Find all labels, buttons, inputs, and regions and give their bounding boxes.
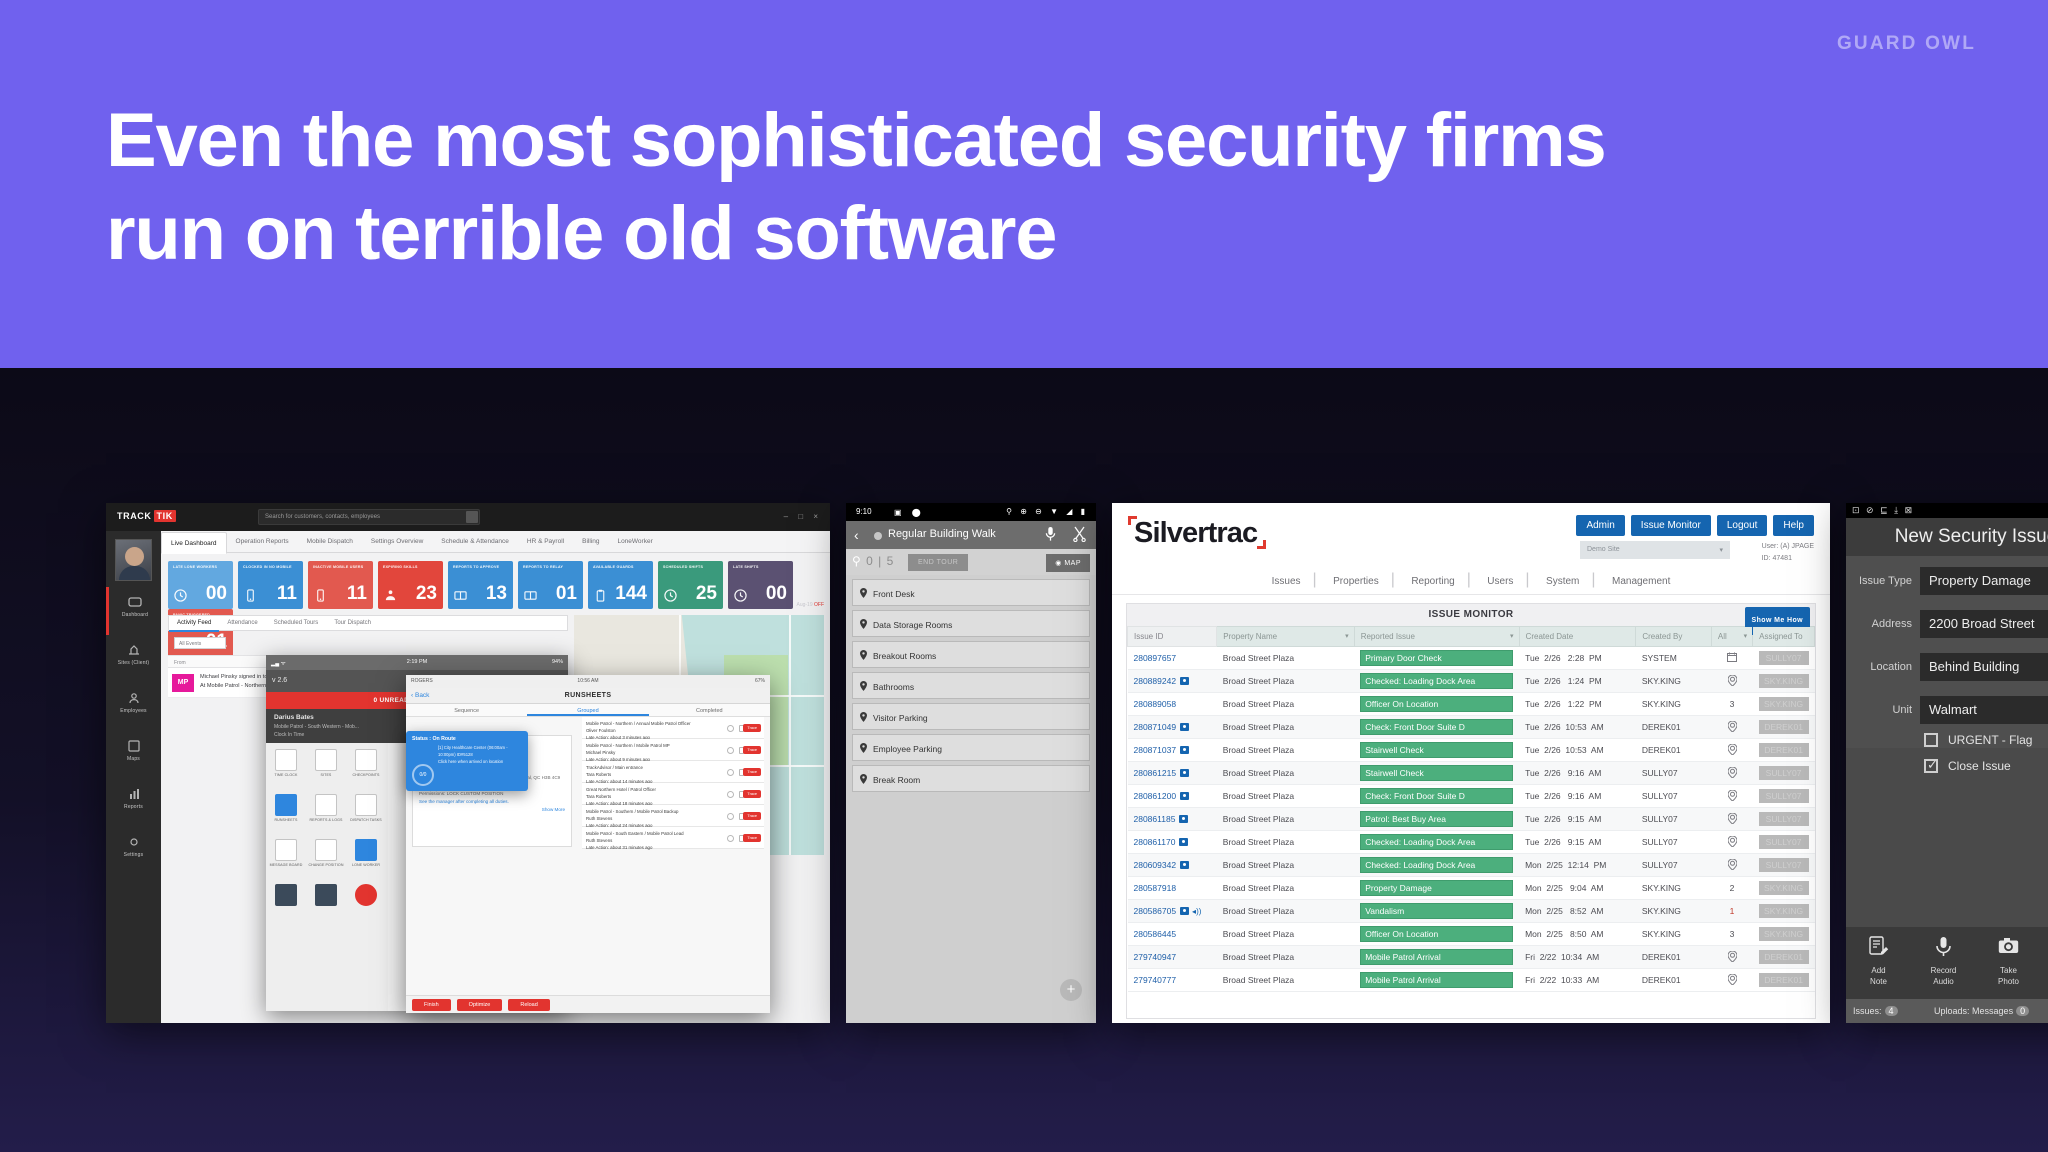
- checkpoint-label: Visitor Parking: [873, 713, 928, 723]
- mobile-tile[interactable]: [266, 878, 306, 923]
- tab-loneworker[interactable]: LoneWorker: [608, 531, 661, 551]
- runsheet-row[interactable]: TrackAdvisor / Main entranceTara Roberts…: [582, 761, 764, 783]
- cell-assigned-to: SKY.KING: [1753, 693, 1815, 716]
- camera-icon: [1179, 838, 1188, 846]
- issue-id-link[interactable]: 280609342: [1134, 860, 1177, 870]
- table-row[interactable]: 280609342 Broad Street Plaza Checked: Lo…: [1128, 854, 1815, 877]
- camera-icon: [1180, 861, 1189, 869]
- tab-settings-overview[interactable]: Settings Overview: [362, 531, 432, 551]
- issue-badge: Property Damage: [1360, 880, 1513, 896]
- runsheet-row[interactable]: Mobile Patrol - Southern / Mobile Patrol…: [582, 805, 764, 827]
- tab-live-dashboard[interactable]: Live Dashboard: [161, 532, 227, 554]
- table-row[interactable]: 280861200 Broad Street Plaza Check: Fron…: [1128, 785, 1815, 808]
- cell-alert: 1: [1711, 900, 1752, 923]
- table-row[interactable]: 280871037 Broad Street Plaza Stairwell C…: [1128, 739, 1815, 762]
- tab-hr-payroll[interactable]: HR & Payroll: [518, 531, 573, 551]
- nav-item-issues[interactable]: Issues: [1260, 576, 1313, 587]
- tab-sequence[interactable]: Sequence: [406, 704, 527, 714]
- issue-badge: Stairwell Check: [1360, 742, 1513, 758]
- cell-issue-id[interactable]: 280586705◂)): [1128, 900, 1217, 923]
- user-subtitle: Mobile Patrol - South Western - Mob... C…: [274, 724, 359, 739]
- field-label: Issue Type: [1854, 575, 1912, 587]
- table-row[interactable]: 280587918 Broad Street Plaza Property Da…: [1128, 877, 1815, 900]
- headline-line-2: run on terrible old software: [106, 188, 1606, 281]
- nav-divider: |: [1591, 571, 1595, 588]
- runsheet-tabs: Sequence Grouped Completed: [406, 704, 770, 717]
- issue-id-link[interactable]: 280586705: [1134, 906, 1177, 916]
- cell-created-by: SULLY07: [1636, 808, 1712, 831]
- dashboard-icon: [128, 595, 142, 609]
- cell-issue-id[interactable]: 280861200: [1128, 785, 1217, 808]
- site-line: Permissions: LOCK CUSTOM POSITION: [419, 790, 565, 798]
- table-row[interactable]: 280586445 Broad Street Plaza Officer On …: [1128, 923, 1815, 946]
- cell-reported-issue: Primary Door Check: [1354, 647, 1519, 670]
- cell-created-date: Tue 2/26 1:24 PM: [1519, 670, 1636, 693]
- tab-billing[interactable]: Billing: [573, 531, 608, 551]
- cell-issue-id[interactable]: 280871037: [1128, 739, 1217, 762]
- mobile-tile[interactable]: RUNSHEETS: [266, 788, 306, 833]
- book-icon: [454, 589, 467, 604]
- trace-button[interactable]: Trace: [743, 812, 761, 820]
- cell-alert: [1711, 647, 1752, 670]
- trace-button[interactable]: Trace: [743, 790, 761, 798]
- cell-created-date: Mon 2/25 8:52 AM: [1519, 900, 1636, 923]
- issue-id-link[interactable]: 280889058: [1134, 699, 1177, 709]
- mobile-tile[interactable]: MESSAGE BOARD: [266, 833, 306, 878]
- cell-issue-id[interactable]: 280861185: [1128, 808, 1217, 831]
- kpi-tile[interactable]: Available Guards 144: [588, 561, 653, 609]
- cell-created-by: SKY.KING: [1636, 877, 1712, 900]
- mobile-tile[interactable]: TIME CLOCK: [266, 743, 306, 788]
- checkbox-row[interactable]: Close Issue: [1846, 754, 2048, 780]
- tracktik-logo-accent: TIK: [154, 510, 176, 522]
- nav-divider: |: [1313, 571, 1317, 588]
- back-label: Back: [415, 692, 429, 699]
- cell-alert: [1711, 739, 1752, 762]
- subtab-tour-dispatch[interactable]: Tour Dispatch: [326, 616, 379, 630]
- issue-id-link[interactable]: 280587918: [1134, 883, 1177, 893]
- checkpoint-label: Breakout Rooms: [873, 651, 936, 661]
- search-icon[interactable]: [466, 511, 478, 523]
- add-checkpoint-button[interactable]: +: [1060, 979, 1082, 1001]
- mobile-tile[interactable]: CHANGE POSITION: [306, 833, 346, 878]
- scissors-icon[interactable]: [1073, 526, 1086, 547]
- runsheet-row[interactable]: Mobile Patrol - South Eastern / Mobile P…: [582, 827, 764, 849]
- nav-item-reporting[interactable]: Reporting: [1399, 576, 1466, 587]
- checkpoint-item[interactable]: Bathrooms: [852, 672, 1090, 699]
- column-header-property-name[interactable]: Property Name▾: [1217, 627, 1354, 647]
- cell-alert: [1711, 808, 1752, 831]
- status-bubble-line: Click here when arrived on location: [438, 758, 522, 765]
- map-button[interactable]: ◉ MAP: [1046, 554, 1090, 572]
- issue-badge: Checked: Loading Dock Area: [1360, 673, 1513, 689]
- cell-property-name: Broad Street Plaza: [1217, 923, 1354, 946]
- nav-divider: |: [1525, 571, 1529, 588]
- sidebar-item-reports[interactable]: Reports: [106, 779, 161, 827]
- tour-title: Regular Building Walk: [888, 528, 996, 540]
- chevron-left-icon[interactable]: ‹: [854, 527, 859, 543]
- issue-id-link[interactable]: 280889242: [1134, 676, 1177, 686]
- issue-id-link[interactable]: 280897657: [1134, 653, 1177, 663]
- microphone-icon: [1911, 936, 1976, 961]
- checkbox[interactable]: [1924, 733, 1938, 747]
- nav-item-management[interactable]: Management: [1600, 576, 1682, 587]
- cell-alert: [1711, 762, 1752, 785]
- nav-item-properties[interactable]: Properties: [1321, 576, 1391, 587]
- sidebar-item-dashboard[interactable]: Dashboard: [106, 587, 161, 635]
- cell-assigned-to: SKY.KING: [1753, 877, 1815, 900]
- logo-corner-icon: [1257, 540, 1266, 549]
- runsheet-row[interactable]: Great Northern Hotel / Patrol OfficerTar…: [582, 783, 764, 805]
- battery-status: 67%: [755, 678, 765, 684]
- cell-property-name: Broad Street Plaza: [1217, 854, 1354, 877]
- kpi-value: 144: [615, 583, 647, 605]
- cell-issue-id[interactable]: 280861170: [1128, 831, 1217, 854]
- trace-button[interactable]: Trace: [743, 834, 761, 842]
- column-header-all[interactable]: All▾: [1711, 627, 1752, 647]
- cell-reported-issue: Stairwell Check: [1354, 739, 1519, 762]
- mobile-tile[interactable]: CHECKPOINTS: [346, 743, 386, 788]
- events-filter-select[interactable]: All Events: [174, 637, 226, 649]
- reports-icon: [315, 794, 337, 816]
- assigned-badge: SKY.KING: [1759, 697, 1809, 711]
- mobile-tile[interactable]: SITES: [306, 743, 346, 788]
- cell-issue-id[interactable]: 280609342: [1128, 854, 1217, 877]
- issue-id-link[interactable]: 280861215: [1134, 768, 1177, 778]
- issue-monitor-button[interactable]: Issue Monitor: [1631, 515, 1711, 536]
- optimize-button[interactable]: Optimize: [457, 999, 503, 1011]
- cell-issue-id[interactable]: 279740777: [1128, 969, 1217, 992]
- clock-icon: [734, 589, 747, 604]
- mobile-tile[interactable]: LONE WORKER: [346, 833, 386, 878]
- sidebar-label: Reports: [106, 804, 161, 810]
- checkbox[interactable]: [1924, 759, 1938, 773]
- checkpoint-item[interactable]: Front Desk: [852, 579, 1090, 606]
- mobile-tile-label: MESSAGE BOARD: [266, 863, 306, 867]
- checkpoint-item[interactable]: Break Room: [852, 765, 1090, 792]
- kpi-tile[interactable]: Clocked In No Mobile 11: [238, 561, 303, 609]
- show-more-link[interactable]: Show More: [419, 806, 565, 814]
- cell-alert: 3: [1711, 923, 1752, 946]
- clock-icon: [664, 589, 677, 604]
- silvertrac-logo-text: Silvertrac: [1134, 517, 1257, 549]
- cell-created-by: SKY.KING: [1636, 900, 1712, 923]
- tool-button[interactable]: TakePhoto: [1976, 927, 2041, 988]
- column-header-created-by[interactable]: Created By: [1636, 627, 1712, 647]
- tab-operation-reports[interactable]: Operation Reports: [227, 531, 298, 551]
- runsheet-list: Mobile Patrol - Northern / Annual Mobile…: [582, 717, 764, 989]
- mobile-tile[interactable]: [306, 878, 346, 923]
- issue-badge: Mobile Patrol Arrival: [1360, 972, 1513, 988]
- back-button[interactable]: ‹ Back: [411, 692, 429, 699]
- table-row[interactable]: 280889058 Broad Street Plaza Officer On …: [1128, 693, 1815, 716]
- cell-created-by: SKY.KING: [1636, 923, 1712, 946]
- field-value[interactable]: Behind Building: [1920, 653, 2048, 681]
- cell-alert: [1711, 785, 1752, 808]
- assigned-badge: DEREK01: [1759, 743, 1809, 757]
- cell-property-name: Broad Street Plaza: [1217, 831, 1354, 854]
- system-icons: ⚲ ⊕ ⊖ ▼ ◢ ▮: [1006, 507, 1088, 516]
- kpi-title: Late Lone Workers: [173, 565, 228, 569]
- sidebar-item-sites[interactable]: Sites (Client): [106, 635, 161, 683]
- runsheet-row[interactable]: Mobile Patrol - Northern / Mobile Patrol…: [582, 739, 764, 761]
- table-row[interactable]: 280861185 Broad Street Plaza Patrol: Bes…: [1128, 808, 1815, 831]
- cell-created-date: Mon 2/25 9:04 AM: [1519, 877, 1636, 900]
- user-name: Darius Bates: [274, 714, 314, 721]
- status-bubble-title: Status : On Route: [412, 736, 522, 742]
- end-tour-button[interactable]: END TOUR: [908, 554, 968, 571]
- field-value[interactable]: Walmart: [1920, 696, 2048, 724]
- table-row[interactable]: 280897657 Broad Street Plaza Primary Doo…: [1128, 647, 1815, 670]
- sidebar-item-employees[interactable]: Employees: [106, 683, 161, 731]
- mobile-tile[interactable]: [346, 878, 386, 923]
- issue-badge: Checked: Loading Dock Area: [1360, 857, 1513, 873]
- mobile-tile[interactable]: REPORTS & LOGS: [306, 788, 346, 833]
- camera-icon: [1180, 769, 1189, 777]
- panel-title-text: ISSUE MONITOR: [1428, 609, 1513, 620]
- kpi-value: 23: [416, 583, 437, 605]
- silvertrac-nav: Issues| Properties| Reporting| Users| Sy…: [1112, 569, 1830, 595]
- table-row[interactable]: 280861170 Broad Street Plaza Checked: Lo…: [1128, 831, 1815, 854]
- cell-issue-id[interactable]: 280861215: [1128, 762, 1217, 785]
- cell-assigned-to: SULLY07: [1753, 831, 1815, 854]
- admin-button[interactable]: Admin: [1576, 515, 1624, 536]
- map-road: [789, 615, 791, 855]
- cell-created-by: DEREK01: [1636, 946, 1712, 969]
- cell-created-by: SKY.KING: [1636, 693, 1712, 716]
- assigned-badge: SULLY07: [1759, 651, 1809, 665]
- cell-created-by: DEREK01: [1636, 739, 1712, 762]
- window-controls[interactable]: – □ ×: [784, 512, 822, 521]
- cell-property-name: Broad Street Plaza: [1217, 716, 1354, 739]
- logout-button[interactable]: Logout: [1717, 515, 1768, 536]
- cell-alert: 3: [1711, 693, 1752, 716]
- cell-assigned-to: DEREK01: [1753, 946, 1815, 969]
- cell-reported-issue: Check: Front Door Suite D: [1354, 716, 1519, 739]
- screenshot-tour-app[interactable]: 9:10 ▣ ⬤ ⚲ ⊕ ⊖ ▼ ◢ ▮ ‹ Regular Building …: [846, 503, 1096, 1023]
- clock-icon: [727, 747, 734, 754]
- runsheet-footer: Finish Optimize Reload: [406, 995, 770, 1013]
- kpi-tile[interactable]: Reports To Approve 13: [448, 561, 513, 609]
- kpi-tile[interactable]: Expiring Skills 23: [378, 561, 443, 609]
- sidebar-item-maps[interactable]: Maps: [106, 731, 161, 779]
- site-note: See the manager after completing all dut…: [419, 798, 565, 806]
- cell-property-name: Broad Street Plaza: [1217, 739, 1354, 762]
- issue-id-link[interactable]: 280861200: [1134, 791, 1177, 801]
- cell-issue-id[interactable]: 280889242: [1128, 670, 1217, 693]
- book-icon: [524, 589, 537, 604]
- status-bar: Issues:4 Uploads: Messages0: [1846, 999, 2048, 1023]
- cell-issue-id[interactable]: 280889058: [1128, 693, 1217, 716]
- site-select-value: Demo Site: [1587, 546, 1620, 553]
- mobile-tile-label: RUNSHEETS: [266, 818, 306, 822]
- form-row: Location Behind Building: [1846, 651, 2048, 685]
- cell-created-by: SULLY07: [1636, 785, 1712, 808]
- table-row[interactable]: 280871049 Broad Street Plaza Check: Fron…: [1128, 716, 1815, 739]
- cell-reported-issue: Officer On Location: [1354, 693, 1519, 716]
- cell-issue-id[interactable]: 280586445: [1128, 923, 1217, 946]
- kpi-title: Available Guards: [593, 565, 648, 569]
- table-row[interactable]: 279740777 Broad Street Plaza Mobile Patr…: [1128, 969, 1815, 992]
- kpi-value: 13: [486, 583, 507, 605]
- cell-created-by: SKY.KING: [1636, 670, 1712, 693]
- chevron-down-icon: ▾: [1719, 546, 1723, 554]
- table-row[interactable]: 280586705◂)) Broad Street Plaza Vandalis…: [1128, 900, 1815, 923]
- clock-in-label: Clock In Time: [274, 732, 359, 740]
- trace-button[interactable]: Trace: [743, 746, 761, 754]
- nav-item-users[interactable]: Users: [1475, 576, 1525, 587]
- microphone-icon[interactable]: [1045, 526, 1056, 547]
- task-icon: [2041, 936, 2048, 961]
- issue-monitor-panel: ISSUE MONITOR Show Me How Issue ID Prope…: [1126, 603, 1816, 1019]
- reload-button[interactable]: Reload: [508, 999, 549, 1011]
- android-status-bar: 9:10 ▣ ⬤ ⚲ ⊕ ⊖ ▼ ◢ ▮: [846, 503, 1096, 521]
- tracktik-search-input[interactable]: Search for customers, contacts, employee…: [258, 509, 480, 525]
- checkpoint-list: Front Desk Data Storage Rooms Breakout R…: [846, 575, 1096, 1023]
- map-date: Aug-19: [796, 602, 812, 608]
- status-bubble[interactable]: Status : On Route [1] City Healthcare Ce…: [406, 731, 528, 791]
- issue-id-link[interactable]: 280586445: [1134, 929, 1177, 939]
- tool-button[interactable]: RecordAudio: [1911, 927, 1976, 988]
- table-row[interactable]: 279740947 Broad Street Plaza Mobile Patr…: [1128, 946, 1815, 969]
- table-row[interactable]: 280861215 Broad Street Plaza Stairwell C…: [1128, 762, 1815, 785]
- cell-property-name: Broad Street Plaza: [1217, 762, 1354, 785]
- runsheet-row[interactable]: Mobile Patrol - Northern / Annual Mobile…: [582, 717, 764, 739]
- progress-indicator: 0/0: [412, 764, 434, 786]
- mobile-tile-label: LONE WORKER: [346, 863, 386, 867]
- cell-created-date: Tue 2/26 2:28 PM: [1519, 647, 1636, 670]
- tool-button[interactable]: CreateTask: [2041, 927, 2048, 988]
- kpi-tile[interactable]: Inactive Mobile Users 11: [308, 561, 373, 609]
- cell-reported-issue: Mobile Patrol Arrival: [1354, 969, 1519, 992]
- kpi-title: Late Shifts: [733, 565, 788, 569]
- cell-created-by: SULLY07: [1636, 831, 1712, 854]
- nav-divider: |: [1391, 571, 1395, 588]
- mobile-tile-label: REPORTS & LOGS: [306, 818, 346, 822]
- cell-created-date: Tue 2/26 9:16 AM: [1519, 762, 1636, 785]
- issue-id-link[interactable]: 279740947: [1134, 952, 1177, 962]
- screenshot-new-security-issue[interactable]: ⊡ ⊘ ⊑ ⤓ ⊠ ▣ ✷ ⊽ New Security Issue Issue…: [1846, 503, 2048, 1023]
- kpi-tile[interactable]: Reports To Relay 01: [518, 561, 583, 609]
- tasks-icon: [355, 794, 377, 816]
- user-position: Mobile Patrol - South Western - Mob...: [274, 724, 359, 732]
- kpi-title: Expiring Skills: [383, 565, 438, 569]
- cell-created-by: SULLY07: [1636, 762, 1712, 785]
- issue-id-link[interactable]: 280871037: [1134, 745, 1177, 755]
- field-label: Unit: [1854, 704, 1912, 716]
- camera-icon: [1180, 723, 1189, 731]
- issue-id-link[interactable]: 279740777: [1134, 975, 1177, 985]
- screen-title: New Security Issue: [1846, 518, 2048, 556]
- kpi-tile[interactable]: Scheduled Shifts 25: [658, 561, 723, 609]
- issue-badge: Patrol: Best Buy Area: [1360, 811, 1513, 827]
- finish-button[interactable]: Finish: [412, 999, 451, 1011]
- cell-issue-id[interactable]: 280897657: [1128, 647, 1217, 670]
- subtab-activity-feed[interactable]: Activity Feed: [169, 616, 219, 632]
- column-header-assigned-to[interactable]: Assigned To: [1753, 627, 1815, 647]
- screenshot-tracktik[interactable]: TRACKTIK Search for customers, contacts,…: [106, 503, 830, 1023]
- screenshot-row: TRACKTIK Search for customers, contacts,…: [0, 503, 2048, 1023]
- tab-completed[interactable]: Completed: [649, 704, 770, 714]
- checkpoint-item[interactable]: Employee Parking: [852, 734, 1090, 761]
- field-value[interactable]: Property Damage: [1920, 567, 2048, 595]
- cell-property-name: Broad Street Plaza: [1217, 969, 1354, 992]
- trace-button[interactable]: Trace: [743, 768, 761, 776]
- clock-icon: [727, 769, 734, 776]
- nav-item-system[interactable]: System: [1534, 576, 1591, 587]
- phone-icon: [244, 589, 257, 604]
- runsheet-icon: [275, 794, 297, 816]
- subtab-attendance[interactable]: Attendance: [219, 616, 265, 630]
- sidebar-item-settings[interactable]: Settings: [106, 827, 161, 875]
- help-button[interactable]: Help: [1773, 515, 1814, 536]
- tool-label: AddNote: [1846, 966, 1911, 988]
- kpi-value: 25: [696, 583, 717, 605]
- cell-property-name: Broad Street Plaza: [1217, 693, 1354, 716]
- checkpoint-item[interactable]: Breakout Rooms: [852, 641, 1090, 668]
- subtab-scheduled-tours[interactable]: Scheduled Tours: [266, 616, 327, 630]
- issue-id-link[interactable]: 280861170: [1134, 837, 1176, 847]
- kpi-tile[interactable]: Late Shifts 00: [728, 561, 793, 609]
- uploads-label: Uploads:: [1934, 1006, 1970, 1016]
- checkbox-row[interactable]: URGENT - Flag: [1846, 728, 2048, 754]
- kpi-value: 00: [766, 583, 787, 605]
- tab-grouped[interactable]: Grouped: [527, 704, 648, 716]
- issue-id-link[interactable]: 280871049: [1134, 722, 1177, 732]
- silvertrac-actions: Admin Issue Monitor Logout Help: [1570, 515, 1814, 536]
- screenshot-silvertrac[interactable]: Silvertrac Admin Issue Monitor Logout He…: [1112, 503, 1830, 1023]
- pin-icon: [860, 588, 867, 598]
- camera-icon: [1976, 936, 2041, 961]
- mobile-tile[interactable]: DISPATCH TASKS: [346, 788, 386, 833]
- site-select[interactable]: Demo Site ▾: [1580, 541, 1730, 559]
- column-header-issue-id[interactable]: Issue ID: [1128, 627, 1217, 647]
- tool-label: RecordAudio: [1911, 966, 1976, 988]
- kpi-value: 00: [206, 583, 227, 605]
- logo-corner-icon: [1128, 516, 1137, 525]
- page-title: Even the most sophisticated security fir…: [106, 95, 1606, 280]
- kpi-title: Reports To Relay: [523, 565, 578, 569]
- cell-issue-id[interactable]: 279740947: [1128, 946, 1217, 969]
- tool-button[interactable]: AddNote: [1846, 927, 1911, 988]
- issue-badge: Check: Front Door Suite D: [1360, 719, 1513, 735]
- trace-button[interactable]: Trace: [743, 724, 761, 732]
- checkpoint-counter: ⚲ 0 | 5: [852, 554, 894, 568]
- kpi-tile[interactable]: Late Lone Workers 00: [168, 561, 233, 609]
- uploads-status: Uploads: Messages0: [1934, 1006, 2029, 1016]
- table-row[interactable]: 280889242 Broad Street Plaza Checked: Lo…: [1128, 670, 1815, 693]
- camera-icon: [1180, 792, 1189, 800]
- cell-issue-id[interactable]: 280587918: [1128, 877, 1217, 900]
- tracktik-mobile-runsheets[interactable]: ROGERS 10:56 AM 67% ‹ Back RUNSHEETS Seq…: [406, 675, 770, 1013]
- cell-alert: [1711, 969, 1752, 992]
- checkpoint-item[interactable]: Data Storage Rooms: [852, 610, 1090, 637]
- issue-tools-bar: AddNote RecordAudio TakePhoto CreateTask: [1846, 927, 2048, 999]
- checkpoint-item[interactable]: Visitor Parking: [852, 703, 1090, 730]
- column-header-reported-issue[interactable]: Reported Issue▾: [1354, 627, 1519, 647]
- issue-id-link[interactable]: 280861185: [1134, 814, 1176, 824]
- camera-icon: [1180, 677, 1189, 685]
- kpi-value: 11: [277, 583, 297, 605]
- message-icon: [275, 839, 297, 861]
- cell-issue-id[interactable]: 280871049: [1128, 716, 1217, 739]
- tab-mobile-dispatch[interactable]: Mobile Dispatch: [298, 531, 362, 551]
- brand-logo: GUARD OWL: [1837, 33, 1976, 55]
- field-value[interactable]: 2200 Broad Street: [1920, 610, 2048, 638]
- column-header-created-date[interactable]: Created Date: [1519, 627, 1636, 647]
- cell-reported-issue: Checked: Loading Dock Area: [1354, 831, 1519, 854]
- tab-schedule-attendance[interactable]: Schedule & Attendance: [432, 531, 518, 551]
